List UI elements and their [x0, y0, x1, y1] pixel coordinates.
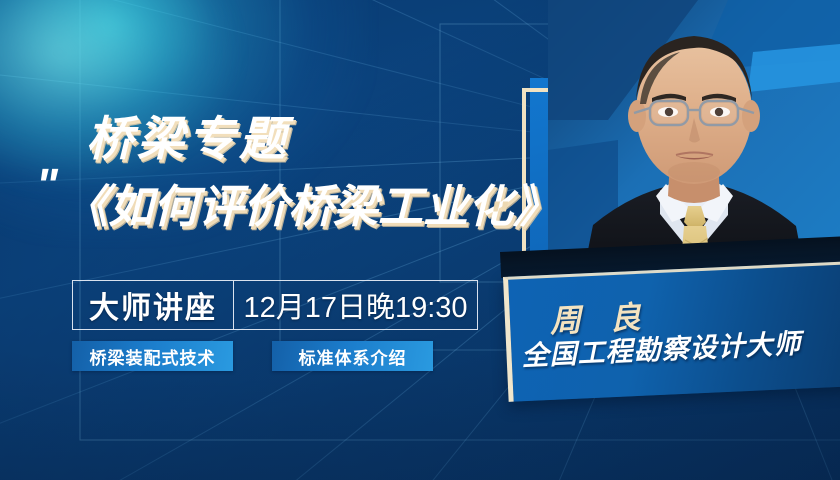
topic-tag-1[interactable]: 桥梁装配式技术	[72, 341, 233, 371]
page-title: 桥梁专题	[86, 100, 290, 169]
speaker-nameplate: 周 良 全国工程勘察设计大师	[503, 261, 840, 402]
page-subtitle: 《如何评价桥梁工业化》	[63, 170, 558, 235]
promo-poster: " 桥梁专题 《如何评价桥梁工业化》 " 大师讲座 12月17日晚19:30 桥…	[0, 0, 840, 480]
quote-open-mark: "	[36, 162, 56, 208]
lecture-datetime-text: 12月17日晚19:30	[243, 284, 467, 326]
lecture-info-box: 大师讲座 12月17日晚19:30	[72, 280, 478, 330]
lecture-datetime: 12月17日晚19:30	[234, 281, 477, 329]
lecture-label-text: 大师讲座	[89, 283, 217, 327]
topic-tag-2[interactable]: 标准体系介绍	[272, 341, 433, 371]
quote-close-mark: "	[489, 196, 506, 236]
lecture-label: 大师讲座	[73, 281, 234, 329]
